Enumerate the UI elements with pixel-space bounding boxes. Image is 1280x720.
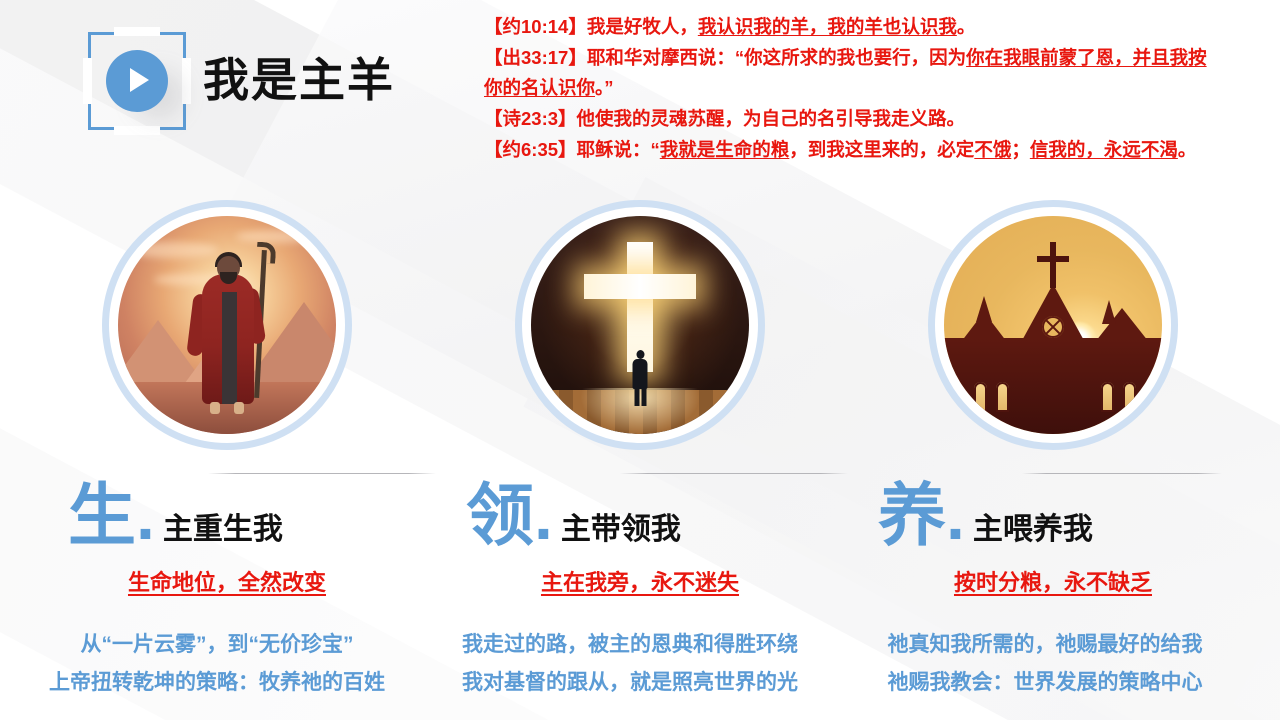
column-3-big-char: 养 bbox=[878, 482, 946, 550]
logo bbox=[88, 32, 186, 130]
column-3-blue-line-2: 祂赐我教会：世界发展的策略中心 bbox=[832, 664, 1258, 702]
shepherd-with-staff-on-mountain-photo bbox=[118, 216, 336, 434]
church-silhouette-at-sunset-photo bbox=[944, 216, 1162, 434]
column-2-red-line: 主在我旁，永不迷失 bbox=[427, 565, 853, 597]
column-2-blue-text: 我走过的路，被主的恩典和得胜环绕 我对基督的跟从，就是照亮世界的光 bbox=[417, 626, 843, 702]
column-3-red-line: 按时分粮，永不缺乏 bbox=[840, 565, 1266, 597]
column-1-blue-text: 从“一片云雾”，到“无价珍宝” 上帝扭转乾坤的策略：牧养祂的百姓 bbox=[4, 626, 430, 702]
scripture-line-3: 【诗23:3】他使我的灵魂苏醒，为自己的名引导我走义路。 【诗23:3】他使我的… bbox=[484, 104, 1208, 134]
column-1-blue-line-1: 从“一片云雾”，到“无价珍宝” bbox=[4, 626, 430, 664]
column-3-heading-text: 主喂养我 bbox=[973, 504, 1093, 548]
scripture-line-1: 【约10:14】我是好牧人，我认识我的羊，我的羊也认识我。 【约10:14】我是… bbox=[484, 12, 1208, 42]
column-3 bbox=[840, 200, 1266, 450]
column-3-blue-line-1: 祂真知我所需的，祂赐最好的给我 bbox=[832, 626, 1258, 664]
column-1 bbox=[14, 200, 440, 450]
column-2-divider bbox=[620, 473, 848, 474]
frame-notch bbox=[114, 126, 160, 135]
column-2-blue-line-1: 我走过的路，被主的恩典和得胜环绕 bbox=[417, 626, 843, 664]
column-1-blue-line-2: 上帝扭转乾坤的策略：牧养祂的百姓 bbox=[4, 664, 430, 702]
slide-canvas: 我是主羊 【约10:14】我是好牧人，我认识我的羊，我的羊也认识我。 【约10:… bbox=[0, 0, 1280, 720]
column-1-red-line: 生命地位，全然改变 bbox=[14, 565, 440, 597]
glowing-cross-with-silhouette-photo bbox=[531, 216, 749, 434]
column-3-heading: 养 . 主喂养我 bbox=[878, 482, 1093, 550]
column-2 bbox=[427, 200, 853, 450]
column-1-heading-text: 主重生我 bbox=[163, 504, 283, 548]
column-2-heading-text: 主带领我 bbox=[561, 504, 681, 548]
circle-image-2 bbox=[515, 200, 765, 450]
play-icon bbox=[106, 50, 168, 112]
page-title: 我是主羊 bbox=[203, 44, 395, 110]
column-2-big-char: 领 bbox=[466, 482, 534, 550]
column-3-blue-text: 祂真知我所需的，祂赐最好的给我 祂赐我教会：世界发展的策略中心 bbox=[832, 626, 1258, 702]
column-1-heading: 生 . 主重生我 bbox=[68, 482, 283, 550]
frame-notch bbox=[182, 58, 191, 104]
column-2-blue-line-2: 我对基督的跟从，就是照亮世界的光 bbox=[417, 664, 843, 702]
column-1-big-char: 生 bbox=[68, 482, 136, 550]
column-1-dot: . bbox=[136, 482, 155, 550]
column-3-divider bbox=[1022, 473, 1222, 474]
column-3-dot: . bbox=[946, 482, 965, 550]
column-1-divider bbox=[208, 473, 436, 474]
frame-notch bbox=[114, 27, 160, 36]
circle-image-3 bbox=[928, 200, 1178, 450]
scripture-line-4: 【约6:35】耶稣说：“我就是生命的粮，到我这里来的，必定不饿；信我的，永远不渴… bbox=[484, 135, 1208, 165]
column-2-dot: . bbox=[534, 482, 553, 550]
column-2-heading: 领 . 主带领我 bbox=[466, 482, 681, 550]
scripture-block: 【约10:14】我是好牧人，我认识我的羊，我的羊也认识我。 【约10:14】我是… bbox=[484, 12, 1208, 166]
circle-image-1 bbox=[102, 200, 352, 450]
frame-notch bbox=[83, 58, 92, 104]
scripture-line-2: 【出33:17】耶和华对摩西说：“你这所求的我也要行，因为你在我眼前蒙了恩，并且… bbox=[484, 43, 1208, 103]
